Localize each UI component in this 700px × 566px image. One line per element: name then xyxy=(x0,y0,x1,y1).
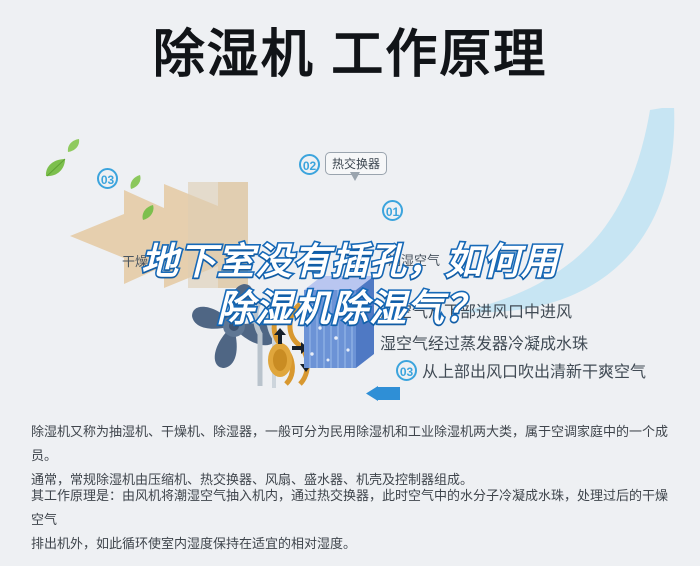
leaf-icon xyxy=(140,204,154,221)
leaf-icon xyxy=(44,158,66,178)
callout-number-03: 03 xyxy=(97,168,118,189)
callout-number-02: 02 xyxy=(299,154,320,175)
callout-number-01: 01 xyxy=(382,200,403,221)
leaf-icon xyxy=(128,174,141,190)
body-paragraph-2: 其工作原理是：由风机将潮湿空气抽入机内，通过热交换器，此时空气中的水分子冷凝成水… xyxy=(31,484,671,556)
step-text-03: 从上部出风口吹出清新干爽空气 xyxy=(422,358,646,382)
body-paragraph-1: 除湿机又称为抽湿机、干燥机、除湿器，一般可分为民用除湿机和工业除湿机两大类，属于… xyxy=(31,420,671,492)
bubble-tail-icon xyxy=(350,172,360,181)
body-paragraph-2-line-2: 排出机外，如此循环使室内湿度保持在适宜的相对湿度。 xyxy=(31,532,671,556)
air-inlet-arrow-icon xyxy=(366,386,400,401)
step-text-02: 湿空气经过蒸发器冷凝成水珠 xyxy=(380,330,588,354)
overlay-headline: 地下室没有插孔，如何用 除湿机除湿气？ xyxy=(0,238,700,332)
body-paragraph-1-line-1: 除湿机又称为抽湿机、干燥机、除湿器，一般可分为民用除湿机和工业除湿机两大类，属于… xyxy=(31,420,671,468)
body-paragraph-2-line-1: 其工作原理是：由风机将潮湿空气抽入机内，通过热交换器，此时空气中的水分子冷凝成水… xyxy=(31,484,671,532)
step-number-03: 03 xyxy=(396,360,417,381)
page-title: 除湿机 工作原理 xyxy=(0,22,700,88)
leaf-icon xyxy=(66,138,80,153)
page-root: 除湿机 工作原理 xyxy=(0,0,700,566)
